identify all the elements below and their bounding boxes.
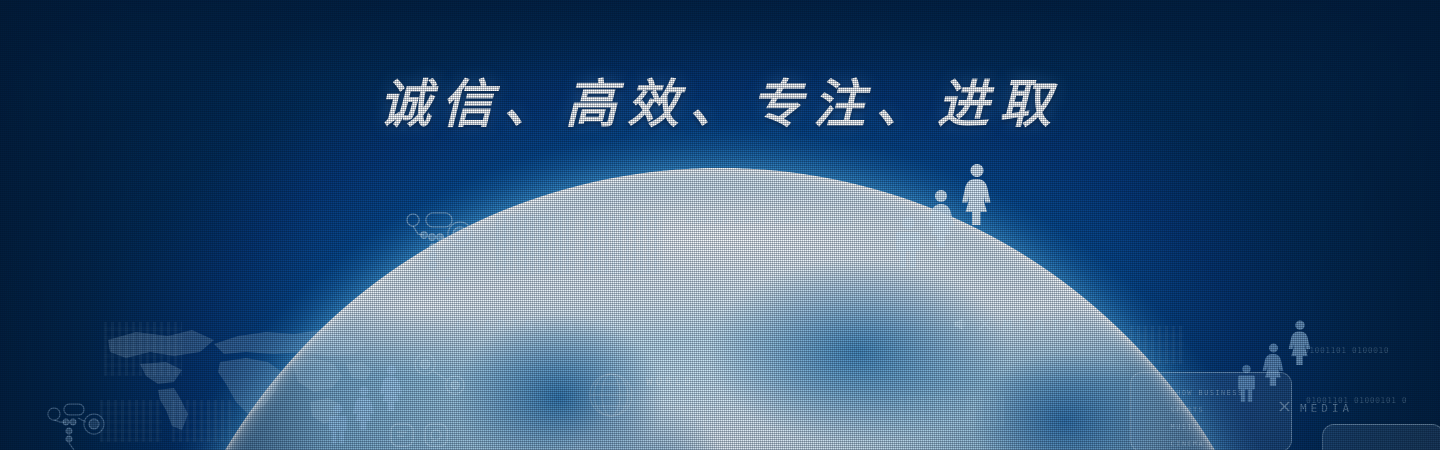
chat-bubble-group	[389, 422, 449, 450]
data-block	[100, 400, 162, 442]
binary-stream: 01001101 01000101 01000100 01001001 0100…	[1304, 346, 1390, 392]
data-block	[644, 392, 716, 432]
person-figure-icon	[925, 189, 957, 247]
person-figure-icon	[352, 386, 376, 430]
network-node-icon	[402, 206, 482, 286]
data-block	[104, 322, 182, 376]
hero-banner: 01001101 01000101 01000100 01001001 0100…	[0, 0, 1440, 450]
network-node-icon	[412, 352, 468, 396]
menu-item[interactable]: SHOW BUSINESS	[1170, 389, 1243, 397]
data-block	[584, 214, 662, 274]
person-figure-icon	[1288, 320, 1312, 365]
data-block	[900, 396, 958, 426]
speaker-icon	[953, 317, 967, 335]
data-block	[496, 214, 574, 274]
wireframe-globe-icon	[588, 372, 634, 423]
page-title: 诚信、高效、专注、进取	[0, 62, 1440, 137]
data-block	[1130, 326, 1184, 364]
menu-item[interactable]: MUSIC	[1170, 423, 1198, 431]
data-block	[172, 400, 234, 442]
menu-item[interactable]: SPORTS	[1170, 406, 1204, 414]
media-label: MEDIA	[1003, 317, 1083, 335]
data-block	[966, 396, 1004, 426]
media-mark-right: MEDIA	[1278, 400, 1353, 416]
person-figure-icon	[960, 163, 994, 225]
chat-bubble-icon	[389, 422, 415, 450]
x-logo-icon	[976, 315, 994, 337]
person-figure-icon	[1262, 343, 1285, 386]
menu-item[interactable]: CINEMA	[1170, 440, 1204, 448]
person-figure-icon	[379, 365, 404, 411]
media-mark: MEDIA	[953, 315, 1083, 337]
person-figure-icon	[893, 216, 923, 270]
binary-stream: 01001101 01000101 01000100 01001001 0100…	[686, 216, 764, 272]
x-logo-icon	[1278, 400, 1291, 416]
world-overlay-label: WORLD	[646, 376, 694, 388]
media-label-right: MEDIA	[1300, 402, 1353, 415]
menu-list: SHOW BUSINESS SPORTS MUSIC CINEMA WORLD …	[1148, 380, 1243, 450]
media-panel-right[interactable]	[1322, 424, 1440, 450]
chat-bubble-icon	[423, 422, 449, 450]
person-figure-icon	[327, 404, 349, 446]
binary-stream: 01001101 01000101 01000100 01001001 0100…	[774, 216, 852, 272]
loading-label: LOADING 100%	[456, 319, 622, 334]
